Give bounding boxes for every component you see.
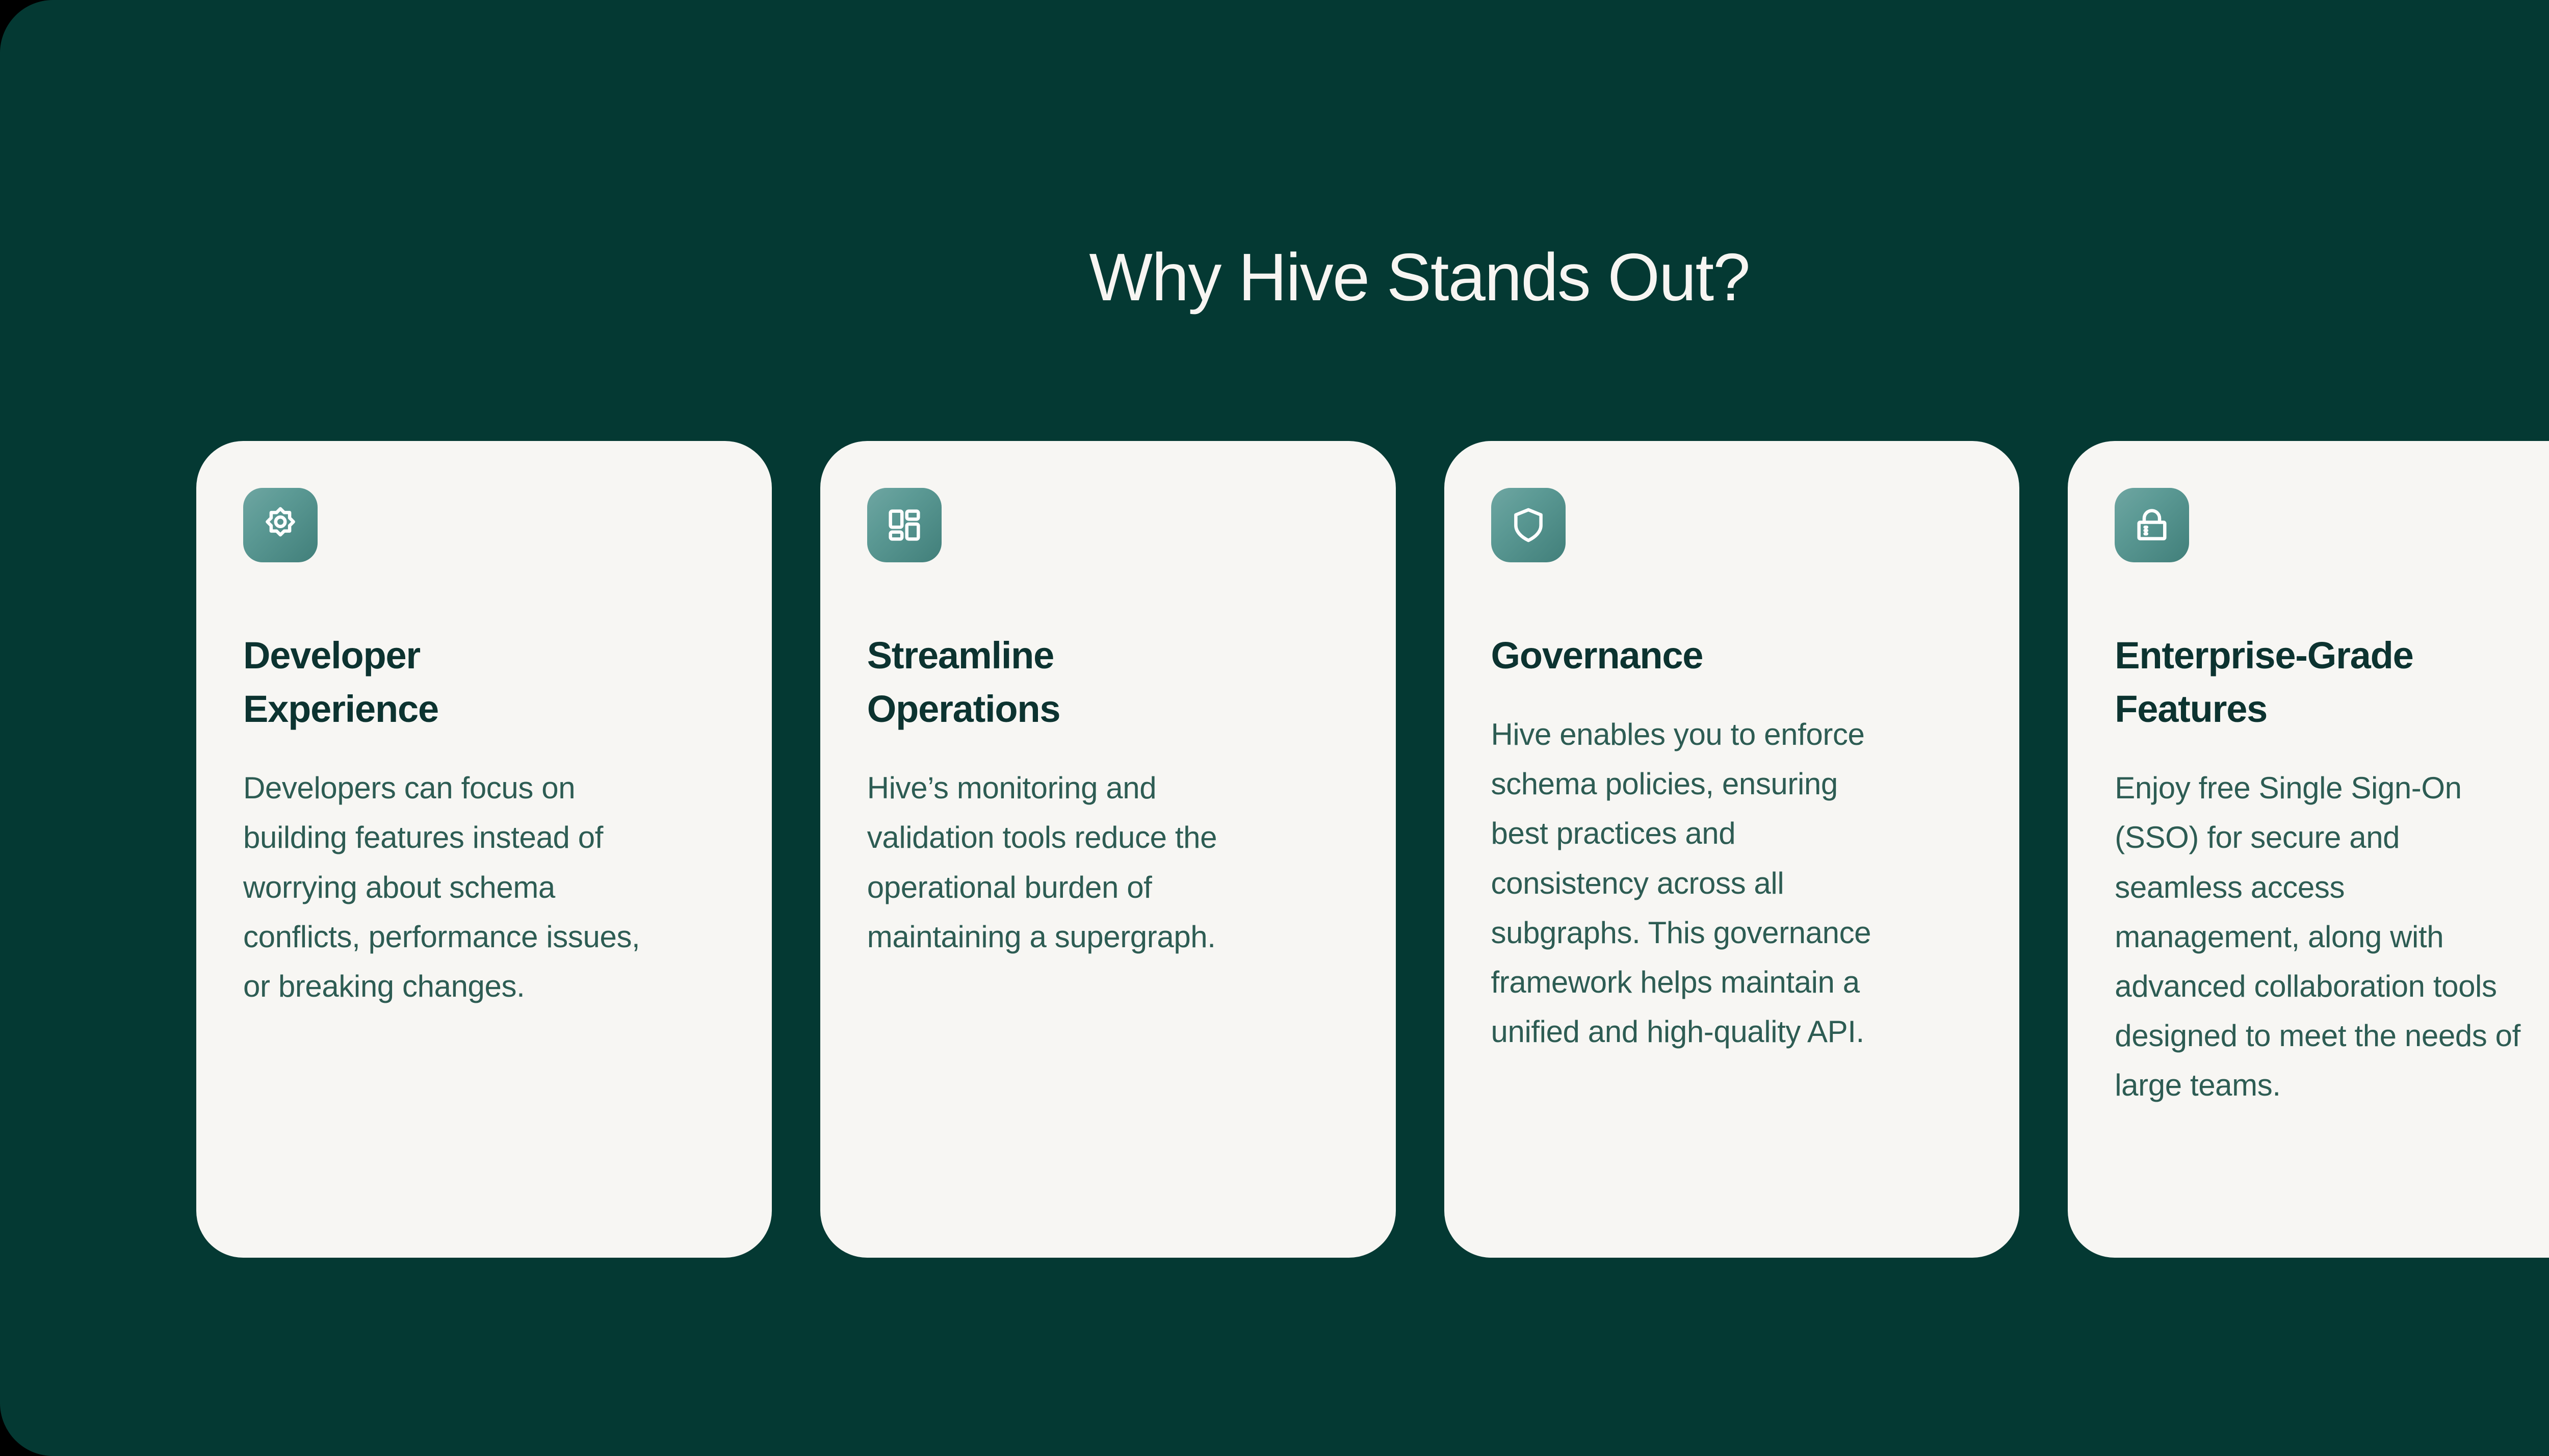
feature-card-title: Developer Experience xyxy=(243,629,600,736)
feature-section: Why Hive Stands Out? Developer Experienc… xyxy=(0,0,2549,1456)
feature-card-developer-experience[interactable]: Developer Experience Developers can focu… xyxy=(196,441,772,1258)
shield-icon xyxy=(1491,488,1566,562)
feature-card-description: Enjoy free Single Sign-On (SSO) for secu… xyxy=(2115,763,2522,1110)
feature-card-enterprise-grade-features[interactable]: Enterprise-Grade Features Enjoy free Sin… xyxy=(2068,441,2549,1258)
lock-icon xyxy=(2115,488,2189,562)
feature-card-governance[interactable]: Governance Hive enables you to enforce s… xyxy=(1444,441,2020,1258)
feature-card-title: Enterprise-Grade Features xyxy=(2115,629,2549,736)
dashboard-layout-icon xyxy=(867,488,942,562)
feature-card-description: Hive’s monitoring and validation tools r… xyxy=(867,763,1280,961)
feature-card-grid: Developer Experience Developers can focu… xyxy=(196,441,2549,1258)
feature-card-streamline-operations[interactable]: Streamline Operations Hive’s monitoring … xyxy=(820,441,1396,1258)
feature-card-description: Developers can focus on building feature… xyxy=(243,763,646,1011)
feature-card-title: Streamline Operations xyxy=(867,629,1224,736)
feature-card-description: Hive enables you to enforce schema polic… xyxy=(1491,710,1879,1056)
feature-card-title: Governance xyxy=(1491,629,1703,682)
settings-gear-icon xyxy=(243,488,318,562)
page-title: Why Hive Stands Out? xyxy=(0,240,2549,314)
